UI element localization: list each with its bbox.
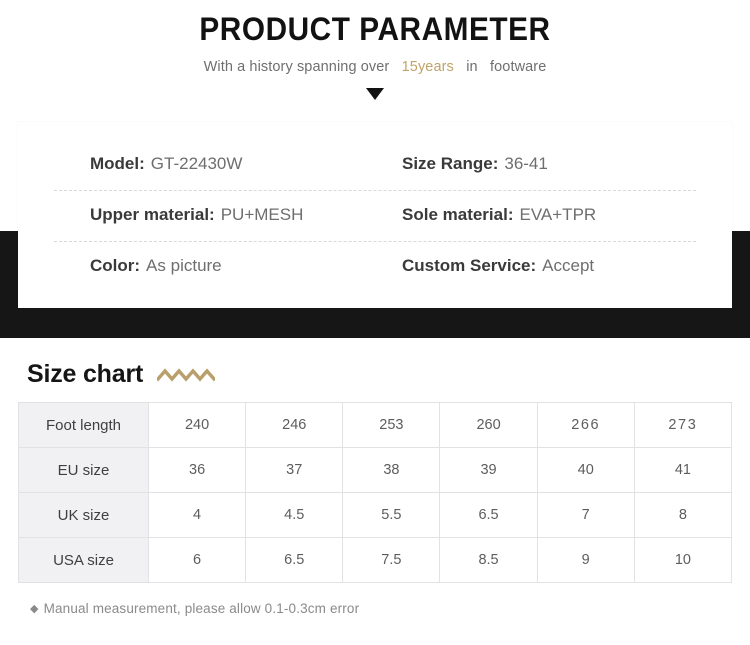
table-cell: 8.5	[440, 538, 537, 583]
zigzag-icon	[157, 368, 215, 387]
row-header: Foot length	[19, 403, 149, 448]
table-cell: 246	[246, 403, 343, 448]
parameter-value: Accept	[542, 256, 594, 276]
subtitle-text-end: footware	[490, 59, 546, 75]
footnote-text: Manual measurement, please allow 0.1-0.3…	[44, 601, 360, 616]
parameter-item-color: Color: As picture	[54, 256, 396, 276]
table-cell: 37	[246, 448, 343, 493]
table-cell: 40	[537, 448, 634, 493]
diamond-bullet-icon: ◆	[30, 603, 39, 615]
table-cell: 10	[634, 538, 731, 583]
table-cell: 4.5	[246, 493, 343, 538]
parameter-value: As picture	[146, 256, 222, 276]
parameter-label: Custom Service:	[402, 256, 536, 276]
parameter-label: Sole material:	[402, 205, 514, 225]
row-header: EU size	[19, 448, 149, 493]
parameter-value: PU+MESH	[221, 205, 304, 225]
table-cell: 266	[537, 403, 634, 448]
row-header: USA size	[19, 538, 149, 583]
table-cell: 38	[343, 448, 440, 493]
page-header: PRODUCT PARAMETER With a history spannin…	[0, 0, 750, 118]
table-row: Foot length 240 246 253 260 266 273	[19, 403, 732, 448]
table-row: UK size 4 4.5 5.5 6.5 7 8	[19, 493, 732, 538]
size-chart-table: Foot length 240 246 253 260 266 273 EU s…	[18, 402, 732, 583]
page-subtitle: With a history spanning over 15years in …	[0, 48, 750, 75]
table-cell: 41	[634, 448, 731, 493]
parameter-row: Model: GT-22430W Size Range: 36-41	[54, 139, 696, 190]
subtitle-highlight: 15years	[402, 59, 454, 75]
size-chart-header: Size chart	[0, 338, 750, 389]
parameter-item-model: Model: GT-22430W	[54, 154, 396, 174]
parameter-row: Upper material: PU+MESH Sole material: E…	[54, 190, 696, 241]
page-title: PRODUCT PARAMETER	[26, 0, 724, 48]
parameter-item-size-range: Size Range: 36-41	[396, 154, 548, 174]
table-cell: 8	[634, 493, 731, 538]
parameter-label: Color:	[90, 256, 140, 276]
table-cell: 6.5	[440, 493, 537, 538]
table-cell: 4	[149, 493, 246, 538]
parameter-item-custom-service: Custom Service: Accept	[396, 256, 594, 276]
parameter-rows: Model: GT-22430W Size Range: 36-41 Upper…	[18, 122, 732, 308]
table-cell: 7.5	[343, 538, 440, 583]
subtitle-text-post: in	[466, 59, 478, 75]
parameter-label: Upper material:	[90, 205, 215, 225]
table-row: USA size 6 6.5 7.5 8.5 9 10	[19, 538, 732, 583]
parameter-panel: Model: GT-22430W Size Range: 36-41 Upper…	[18, 122, 732, 308]
measurement-footnote: ◆Manual measurement, please allow 0.1-0.…	[0, 583, 750, 616]
parameter-item-sole-material: Sole material: EVA+TPR	[396, 205, 596, 225]
table-cell: 260	[440, 403, 537, 448]
parameter-value: EVA+TPR	[520, 205, 597, 225]
parameter-label: Size Range:	[402, 154, 498, 174]
size-chart-title: Size chart	[27, 360, 143, 389]
table-row: EU size 36 37 38 39 40 41	[19, 448, 732, 493]
parameter-label: Model:	[90, 154, 145, 174]
size-chart-section: Size chart Foot length 240 246 253 260 2…	[0, 338, 750, 616]
table-cell: 9	[537, 538, 634, 583]
subtitle-text-pre: With a history spanning over	[204, 59, 390, 75]
table-cell: 6	[149, 538, 246, 583]
row-header: UK size	[19, 493, 149, 538]
parameter-row: Color: As picture Custom Service: Accept	[54, 241, 696, 292]
table-cell: 36	[149, 448, 246, 493]
table-cell: 5.5	[343, 493, 440, 538]
parameter-item-upper-material: Upper material: PU+MESH	[54, 205, 396, 225]
table-cell: 7	[537, 493, 634, 538]
table-cell: 273	[634, 403, 731, 448]
parameter-value: 36-41	[504, 154, 547, 174]
parameter-value: GT-22430W	[151, 154, 243, 174]
table-cell: 6.5	[246, 538, 343, 583]
triangle-down-icon	[366, 88, 384, 100]
table-cell: 240	[149, 403, 246, 448]
table-cell: 253	[343, 403, 440, 448]
table-cell: 39	[440, 448, 537, 493]
